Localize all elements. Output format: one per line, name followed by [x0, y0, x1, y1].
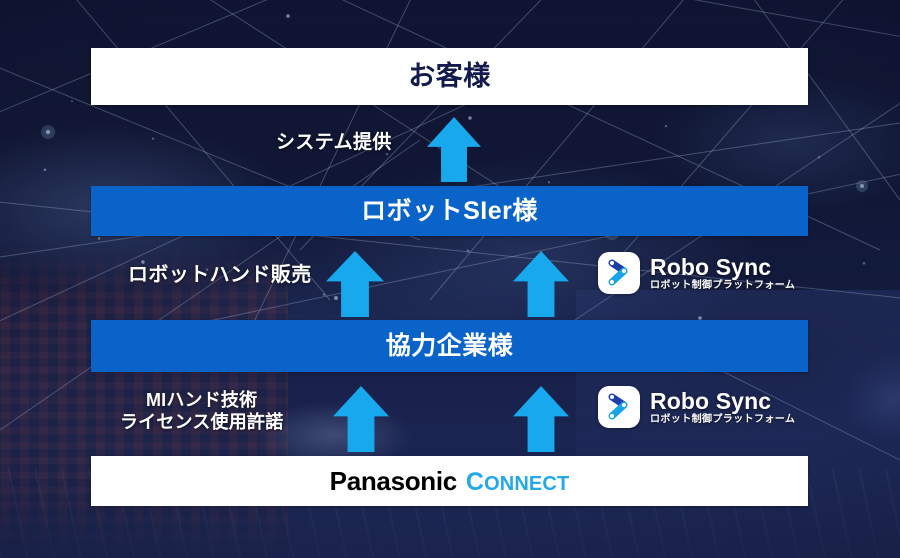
robosync-logo-lower: Robo Sync ロボット制御プラットフォーム: [598, 386, 795, 428]
connect-wordmark: CONNECT: [466, 470, 569, 495]
robot-arm-icon: [598, 386, 640, 428]
flow-caption-mi-hand-license: MIハンド技術 ライセンス使用許諾: [120, 390, 283, 434]
flow-arrow-up-icon: [513, 386, 569, 452]
layer-box-partner-companies: 協力企業様: [91, 320, 808, 372]
flow-arrow-up-icon: [333, 386, 389, 452]
flow-caption-robot-hand-sales: ロボットハンド販売: [128, 263, 312, 287]
layer-label-robot-sier: ロボットSIer様: [361, 199, 538, 224]
scheme-diagram: お客様 システム提供 ロボットSIer様 ロボットハンド販売: [0, 0, 900, 558]
connect-remainder: ONNECT: [484, 473, 569, 495]
robosync-title: Robo Sync: [650, 390, 795, 413]
robosync-subtitle: ロボット制御プラットフォーム: [650, 281, 795, 291]
flow-arrow-up-icon: [326, 251, 384, 317]
layer-label-partner-companies: 協力企業様: [386, 334, 514, 359]
layer-box-panasonic-connect: Panasonic CONNECT: [91, 456, 808, 506]
panasonic-connect-logo: Panasonic CONNECT: [330, 468, 570, 495]
flow-arrow-up-icon: [427, 117, 481, 182]
layer-box-customer: お客様: [91, 48, 808, 105]
robosync-text-block: Robo Sync ロボット制御プラットフォーム: [650, 390, 795, 425]
diagram-canvas: お客様 システム提供 ロボットSIer様 ロボットハンド販売: [0, 0, 900, 558]
panasonic-wordmark: Panasonic: [330, 468, 457, 494]
robosync-subtitle: ロボット制御プラットフォーム: [650, 415, 795, 425]
robosync-text-block: Robo Sync ロボット制御プラットフォーム: [650, 256, 795, 291]
flow-caption-system-provision: システム提供: [276, 131, 392, 154]
layer-box-robot-sier: ロボットSIer様: [91, 186, 808, 236]
connect-initial: C: [466, 468, 484, 496]
robosync-logo-upper: Robo Sync ロボット制御プラットフォーム: [598, 252, 795, 294]
flow-arrow-up-icon: [513, 251, 569, 317]
layer-label-customer: お客様: [408, 63, 491, 90]
robot-arm-icon: [598, 252, 640, 294]
robosync-title: Robo Sync: [650, 256, 795, 279]
